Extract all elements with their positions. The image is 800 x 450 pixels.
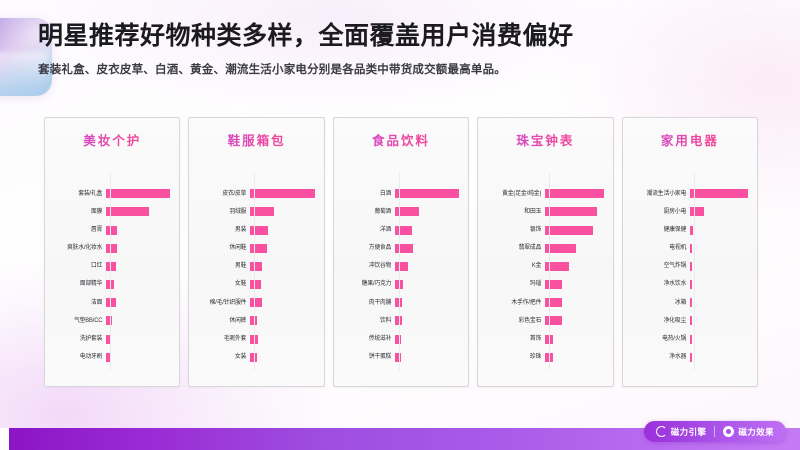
bar-track <box>690 312 748 330</box>
bar <box>545 280 561 289</box>
bar-row: 面膜 <box>54 203 170 221</box>
bar-category-label: 净水器 <box>636 354 690 360</box>
bar-category-label: 饼干蛋糕 <box>347 354 395 360</box>
bar <box>545 207 596 216</box>
bar-row: 和田玉 <box>487 203 603 221</box>
bar-category-label: 白酒 <box>347 191 395 197</box>
bar-track <box>106 294 170 312</box>
bar-row: 玛瑙 <box>487 276 603 294</box>
bar-category-label: 净水饮水 <box>636 281 690 287</box>
bar-track <box>690 239 748 257</box>
bar-track <box>106 276 170 294</box>
bar-category-label: 葡萄酒 <box>347 209 395 215</box>
bar-category-label: 玛瑙 <box>491 281 545 287</box>
bar <box>250 262 262 271</box>
bar-category-label: 珍珠 <box>491 354 545 360</box>
bar-category-label: 净化吸尘 <box>636 318 690 324</box>
bar-row: 洗护套装 <box>54 330 170 348</box>
bar-track <box>250 239 314 257</box>
bar <box>690 226 693 235</box>
bar-category-label: 套装/礼盒 <box>58 191 106 197</box>
bar-row: 葡萄酒 <box>343 203 459 221</box>
bar-row: 潮流生活小家电 <box>632 185 748 203</box>
brand-secondary: 磁力效果 <box>723 426 774 438</box>
bar-track <box>545 257 603 275</box>
header: 明星推荐好物种类多样，全面覆盖用户消费偏好 套装礼盒、皮衣皮草、白酒、黄金、潮流… <box>38 22 738 77</box>
bar-category-label: 棉/毛/针织服件 <box>202 300 250 306</box>
bar <box>395 244 414 253</box>
bar-row: 女鞋 <box>198 276 314 294</box>
bar-category-label: 空气炸锅 <box>636 263 690 269</box>
bar-track <box>545 294 603 312</box>
bar <box>250 280 261 289</box>
slide-canvas: 明星推荐好物种类多样，全面覆盖用户消费偏好 套装礼盒、皮衣皮草、白酒、黄金、潮流… <box>0 0 800 450</box>
chart-panel: 美妆个护套装/礼盒面膜唇膏爽肤水/化妆水口红面部精华洁面气垫BB/CC洗护套装电… <box>44 117 180 387</box>
bar <box>395 353 401 362</box>
bar-row: 饮料 <box>343 312 459 330</box>
bar <box>545 244 576 253</box>
bar-category-label: 电热/火锅 <box>636 336 690 342</box>
bar <box>395 335 401 344</box>
bar <box>250 335 258 344</box>
bar-track <box>395 239 459 257</box>
bar-track <box>395 203 459 221</box>
bar-row: 电视机 <box>632 239 748 257</box>
bar-row: 气垫BB/CC <box>54 312 170 330</box>
bar-row: 毛呢外套 <box>198 330 314 348</box>
bar-category-label: 木手作/把件 <box>491 300 545 306</box>
bar <box>545 262 568 271</box>
bar-track <box>545 185 603 203</box>
bar-row: 传统滋补 <box>343 330 459 348</box>
bar-track <box>250 221 314 239</box>
chart-panel: 家用电器潮流生活小家电厨房小电健康保健电视机空气炸锅净水饮水冰箱净化吸尘电热/火… <box>622 117 758 387</box>
bar-category-label: 毛呢外套 <box>202 336 250 342</box>
bar-row: 净水器 <box>632 348 748 366</box>
bar-row: 糖果/巧克力 <box>343 276 459 294</box>
panel-title: 珠宝钟表 <box>487 130 603 149</box>
bar <box>545 189 603 198</box>
bar-row: 男装 <box>198 221 314 239</box>
bar-row: 休闲鞋 <box>198 239 314 257</box>
magnetic-effect-icon <box>723 426 734 437</box>
bar-row: 珍珠 <box>487 348 603 366</box>
bar <box>395 298 402 307</box>
bar-category-label: K金 <box>491 263 545 269</box>
bar <box>545 298 561 307</box>
bar-row: 口红 <box>54 257 170 275</box>
bar-track <box>395 257 459 275</box>
chart-panel: 食品饮料白酒葡萄酒洋酒方便食品冲饮谷物糖果/巧克力肉干肉脯饮料传统滋补饼干蛋糕 <box>333 117 469 387</box>
bar-row: 皮衣/皮草 <box>198 185 314 203</box>
bar <box>106 226 117 235</box>
bar-row: 净水饮水 <box>632 276 748 294</box>
bar-track <box>250 330 314 348</box>
bar-row: 空气炸锅 <box>632 257 748 275</box>
bar <box>395 207 419 216</box>
bar-track <box>545 221 603 239</box>
bar <box>106 316 112 325</box>
bar-row: 木手作/把件 <box>487 294 603 312</box>
bar <box>395 189 459 198</box>
bar <box>250 353 257 362</box>
bar <box>545 335 553 344</box>
chart-panel-row: 美妆个护套装/礼盒面膜唇膏爽肤水/化妆水口红面部精华洁面气垫BB/CC洗护套装电… <box>44 117 758 387</box>
bar-category-label: 女鞋 <box>202 281 250 287</box>
bar-track <box>250 257 314 275</box>
bar-track <box>690 221 748 239</box>
bar-row: 冲饮谷物 <box>343 257 459 275</box>
page-title: 明星推荐好物种类多样，全面覆盖用户消费偏好 <box>38 22 738 52</box>
bar-row: 冰箱 <box>632 294 748 312</box>
bar-category-label: 黄金(足金/纯金) <box>491 191 545 197</box>
bar-chart: 套装/礼盒面膜唇膏爽肤水/化妆水口红面部精华洁面气垫BB/CC洗护套装电动牙刷 <box>54 153 170 376</box>
bar-track <box>690 257 748 275</box>
bar-track <box>545 312 603 330</box>
bar-track <box>250 276 314 294</box>
bar-category-label: 唇膏 <box>58 227 106 233</box>
bar-category-label: 电动牙刷 <box>58 354 106 360</box>
bar-row: 黄金(足金/纯金) <box>487 185 603 203</box>
bar-track <box>690 185 748 203</box>
bar <box>106 298 116 307</box>
bar-track <box>395 276 459 294</box>
bar-track <box>250 294 314 312</box>
bar-track <box>395 185 459 203</box>
bar <box>395 226 412 235</box>
bar-chart: 黄金(足金/纯金)和田玉银饰翡翠成品K金玛瑙木手作/把件彩色宝石首饰珍珠 <box>487 153 603 376</box>
bar-category-label: 爽肤水/化妆水 <box>58 245 106 251</box>
bar <box>690 189 748 198</box>
bar <box>106 262 116 271</box>
bar-row: 方便食品 <box>343 239 459 257</box>
bar-category-label: 翡翠成品 <box>491 245 545 251</box>
bar-row: 彩色宝石 <box>487 312 603 330</box>
bar-track <box>106 330 170 348</box>
bar-category-label: 休闲裤 <box>202 318 250 324</box>
bar-category-label: 饮料 <box>347 318 395 324</box>
bar-track <box>106 257 170 275</box>
brand-divider <box>714 426 715 437</box>
bar-row: 白酒 <box>343 185 459 203</box>
bar-track <box>545 330 603 348</box>
bar-track <box>395 294 459 312</box>
bar-category-label: 口红 <box>58 263 106 269</box>
chart-panel: 鞋服箱包皮衣/皮草羽绒服男装休闲鞋男鞋女鞋棉/毛/针织服件休闲裤毛呢外套女装 <box>188 117 324 387</box>
bar <box>250 316 257 325</box>
bar-row: 洋酒 <box>343 221 459 239</box>
bar <box>106 244 117 253</box>
bar-category-label: 方便食品 <box>347 245 395 251</box>
bar <box>545 226 593 235</box>
bar-track <box>106 185 170 203</box>
bar-track <box>106 203 170 221</box>
bar <box>250 207 273 216</box>
bar-category-label: 厨房小电 <box>636 209 690 215</box>
bar-row: 饼干蛋糕 <box>343 348 459 366</box>
bar-chart: 皮衣/皮草羽绒服男装休闲鞋男鞋女鞋棉/毛/针织服件休闲裤毛呢外套女装 <box>198 153 314 376</box>
bar <box>690 207 704 216</box>
bar <box>106 335 111 344</box>
bar-category-label: 传统滋补 <box>347 336 395 342</box>
bar <box>545 353 553 362</box>
brand-primary: 磁力引擎 <box>656 426 707 438</box>
bar <box>395 280 403 289</box>
bar-row: 肉干肉脯 <box>343 294 459 312</box>
bar-track <box>545 203 603 221</box>
bar <box>545 316 561 325</box>
bar-track <box>690 294 748 312</box>
bar-track <box>395 221 459 239</box>
bar-row: 翡翠成品 <box>487 239 603 257</box>
panel-title: 鞋服箱包 <box>198 130 314 149</box>
bar-row: 电热/火锅 <box>632 330 748 348</box>
bar-category-label: 羽绒服 <box>202 209 250 215</box>
bar-category-label: 洁面 <box>58 300 106 306</box>
bar <box>395 262 408 271</box>
bar-row: 套装/礼盒 <box>54 185 170 203</box>
bar-category-label: 女装 <box>202 354 250 360</box>
bar-category-label: 肉干肉脯 <box>347 300 395 306</box>
bar-category-label: 首饰 <box>491 336 545 342</box>
bar-category-label: 休闲鞋 <box>202 245 250 251</box>
bar-chart: 潮流生活小家电厨房小电健康保健电视机空气炸锅净水饮水冰箱净化吸尘电热/火锅净水器 <box>632 153 748 376</box>
bar-category-label: 皮衣/皮草 <box>202 191 250 197</box>
bar-category-label: 洋酒 <box>347 227 395 233</box>
bar <box>250 189 314 198</box>
bar-row: 男鞋 <box>198 257 314 275</box>
bar <box>250 244 266 253</box>
bar <box>106 280 114 289</box>
bar-track <box>545 348 603 366</box>
bar-track <box>106 239 170 257</box>
bar-category-label: 银饰 <box>491 227 545 233</box>
bar-row: 首饰 <box>487 330 603 348</box>
brand-secondary-label: 磁力效果 <box>738 426 774 438</box>
bar-row: 洁面 <box>54 294 170 312</box>
bar-track <box>690 348 748 366</box>
panel-title: 美妆个护 <box>54 130 170 149</box>
magnetic-engine-icon <box>656 426 667 437</box>
bar-row: 棉/毛/针织服件 <box>198 294 314 312</box>
bar-row: 银饰 <box>487 221 603 239</box>
bar <box>250 226 267 235</box>
bar <box>106 189 170 198</box>
chart-panel: 珠宝钟表黄金(足金/纯金)和田玉银饰翡翠成品K金玛瑙木手作/把件彩色宝石首饰珍珠 <box>477 117 613 387</box>
bar-row: 羽绒服 <box>198 203 314 221</box>
bar-track <box>250 312 314 330</box>
bar-row: 面部精华 <box>54 276 170 294</box>
bar-row: 电动牙刷 <box>54 348 170 366</box>
bar-category-label: 冲饮谷物 <box>347 263 395 269</box>
bar-row: 厨房小电 <box>632 203 748 221</box>
bar-track <box>395 330 459 348</box>
bar-category-label: 电视机 <box>636 245 690 251</box>
bar-row: 爽肤水/化妆水 <box>54 239 170 257</box>
bar-category-label: 面部精华 <box>58 281 106 287</box>
bar-track <box>690 203 748 221</box>
bar-track <box>250 185 314 203</box>
bar-track <box>395 348 459 366</box>
bar-row: 净化吸尘 <box>632 312 748 330</box>
panel-title: 食品饮料 <box>343 130 459 149</box>
bar-row: K金 <box>487 257 603 275</box>
bar-track <box>690 330 748 348</box>
bar-category-label: 彩色宝石 <box>491 318 545 324</box>
brand-footer: 磁力引擎 磁力效果 <box>644 421 786 442</box>
bar-category-label: 男装 <box>202 227 250 233</box>
bar-track <box>106 348 170 366</box>
bar-category-label: 和田玉 <box>491 209 545 215</box>
bar-category-label: 洗护套装 <box>58 336 106 342</box>
brand-primary-label: 磁力引擎 <box>671 426 707 438</box>
bar-row: 健康保健 <box>632 221 748 239</box>
bar-track <box>106 312 170 330</box>
bar-track <box>250 348 314 366</box>
bar-category-label: 潮流生活小家电 <box>636 191 690 197</box>
bar-track <box>545 239 603 257</box>
bar-category-label: 男鞋 <box>202 263 250 269</box>
bar <box>106 207 149 216</box>
bar <box>395 316 402 325</box>
bar-category-label: 气垫BB/CC <box>58 318 106 324</box>
bar-chart: 白酒葡萄酒洋酒方便食品冲饮谷物糖果/巧克力肉干肉脯饮料传统滋补饼干蛋糕 <box>343 153 459 376</box>
bar-track <box>395 312 459 330</box>
bar-row: 女装 <box>198 348 314 366</box>
panel-title: 家用电器 <box>632 130 748 149</box>
bar-category-label: 冰箱 <box>636 300 690 306</box>
bar-track <box>690 276 748 294</box>
bar-category-label: 面膜 <box>58 209 106 215</box>
bar-category-label: 健康保健 <box>636 227 690 233</box>
bar <box>250 298 262 307</box>
bar <box>106 353 111 362</box>
bar-row: 唇膏 <box>54 221 170 239</box>
bar-track <box>545 276 603 294</box>
bar-row: 休闲裤 <box>198 312 314 330</box>
page-subtitle: 套装礼盒、皮衣皮草、白酒、黄金、潮流生活小家电分别是各品类中带货成交额最高单品。 <box>38 61 738 77</box>
bar-track <box>106 221 170 239</box>
bar-category-label: 糖果/巧克力 <box>347 281 395 287</box>
bar-track <box>250 203 314 221</box>
